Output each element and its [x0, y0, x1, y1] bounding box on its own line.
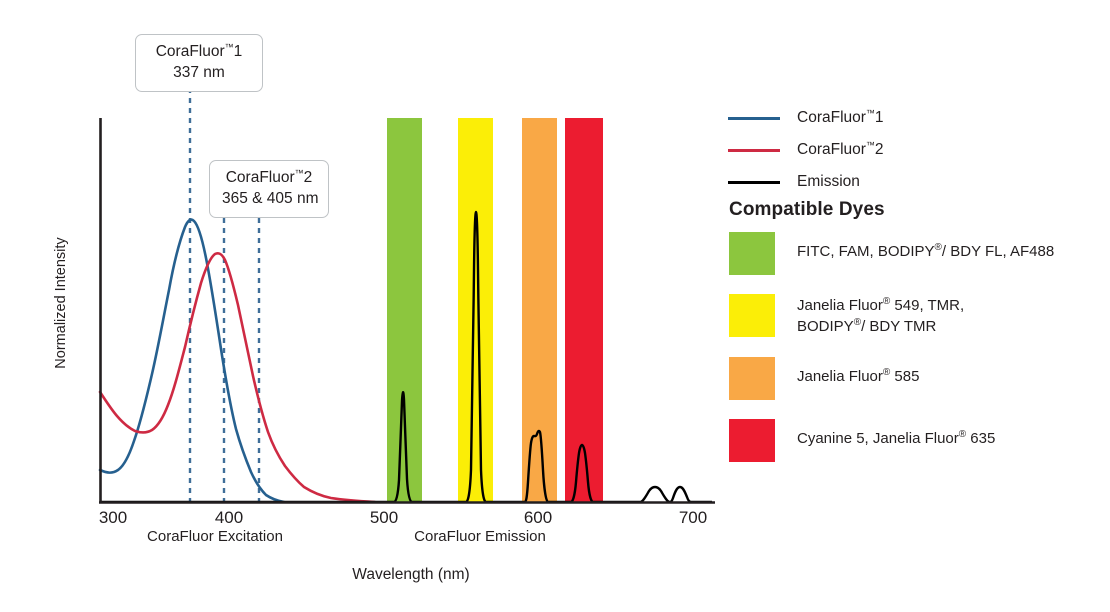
dye-row-janelia585[interactable]: Janelia Fluor® 585: [729, 357, 1109, 400]
registered-icon: ®: [935, 242, 942, 253]
callout-cf1-value: 337 nm: [148, 63, 250, 83]
callout-corafluor2: CoraFluor™2 365 & 405 nm: [209, 160, 329, 218]
legend-label-emission: Emission: [797, 173, 860, 191]
dye-row-fitc[interactable]: FITC, FAM, BODIPY®/ BDY FL, AF488: [729, 232, 1109, 275]
callout-cf2-number: 2: [304, 169, 313, 186]
emission-bands: [387, 118, 603, 502]
legend-item-corafluor2[interactable]: CoraFluor™2: [728, 140, 1108, 160]
marker-lines: [190, 88, 259, 502]
x-tick-500: 500: [354, 508, 414, 528]
x-axis-title: Wavelength (nm): [0, 566, 822, 584]
color-swatch-yellow: [729, 294, 775, 337]
y-axis-title: Normalized Intensity: [53, 223, 69, 383]
legend-line-icon-emission: [728, 181, 780, 184]
band-janelia585: [522, 118, 557, 502]
emission-range-label: CoraFluor Emission: [405, 528, 555, 545]
trademark-icon: ™: [225, 42, 234, 52]
trademark-icon: ™: [866, 108, 875, 118]
band-janelia549: [458, 118, 493, 502]
color-swatch-orange: [729, 357, 775, 400]
legend-line-icon-corafluor2: [728, 149, 780, 152]
callout-cf2-title: CoraFluor: [226, 169, 295, 186]
dye-label-fitc: FITC, FAM, BODIPY®/ BDY FL, AF488: [797, 232, 1054, 262]
trademark-icon: ™: [295, 168, 304, 178]
color-swatch-green: [729, 232, 775, 275]
dye-label-janelia585: Janelia Fluor® 585: [797, 357, 919, 387]
x-tick-600: 600: [508, 508, 568, 528]
excitation-range-label: CoraFluor Excitation: [135, 528, 295, 545]
dye-label-janelia549: Janelia Fluor® 549, TMR, BODIPY®/ BDY TM…: [797, 294, 964, 338]
compatible-dyes-list: FITC, FAM, BODIPY®/ BDY FL, AF488 Janeli…: [729, 232, 1109, 481]
x-tick-700: 700: [663, 508, 723, 528]
legend-label-corafluor2: CoraFluor™2: [797, 140, 884, 159]
series-legend: CoraFluor™1 CoraFluor™2 Emission: [728, 108, 1108, 204]
legend-label-corafluor1: CoraFluor™1: [797, 108, 884, 127]
legend-item-emission[interactable]: Emission: [728, 172, 1108, 192]
dye-row-janelia549[interactable]: Janelia Fluor® 549, TMR, BODIPY®/ BDY TM…: [729, 294, 1109, 338]
callout-corafluor1: CoraFluor™1 337 nm: [135, 34, 263, 92]
x-tick-400: 400: [199, 508, 259, 528]
registered-icon: ®: [854, 317, 861, 328]
curve-corafluor2: [100, 253, 375, 502]
callout-cf1-number: 1: [234, 43, 243, 60]
x-tick-300: 300: [83, 508, 143, 528]
band-cyanine5: [565, 118, 603, 502]
trademark-icon: ™: [866, 140, 875, 150]
callout-cf2-value: 365 & 405 nm: [222, 189, 316, 209]
curve-corafluor1: [100, 220, 284, 502]
callout-cf1-title: CoraFluor: [156, 43, 225, 60]
compatible-dyes-title: Compatible Dyes: [729, 199, 885, 221]
dye-row-cyanine5[interactable]: Cyanine 5, Janelia Fluor® 635: [729, 419, 1109, 462]
spectral-figure: CoraFluor™1 337 nm CoraFluor™2 365 & 405…: [0, 0, 1110, 612]
legend-item-corafluor1[interactable]: CoraFluor™1: [728, 108, 1108, 128]
legend-line-icon-corafluor1: [728, 117, 780, 120]
dye-label-cyanine5: Cyanine 5, Janelia Fluor® 635: [797, 419, 995, 449]
color-swatch-red: [729, 419, 775, 462]
